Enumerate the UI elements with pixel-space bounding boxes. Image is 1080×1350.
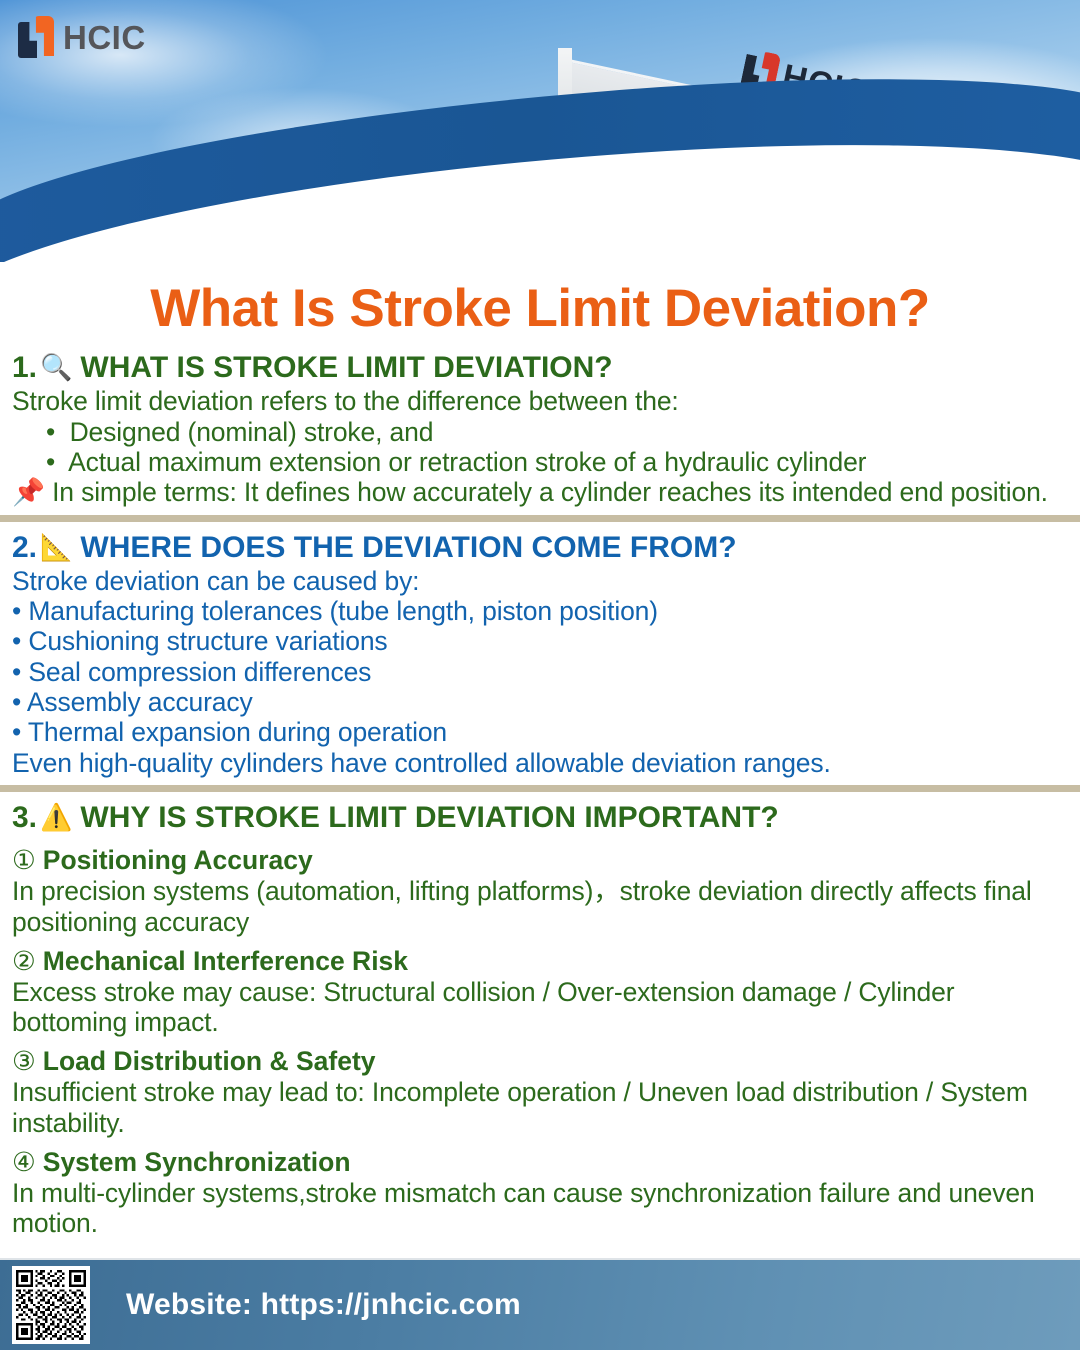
section-3-item-3-title: ③Load Distribution & Safety: [12, 1046, 1068, 1077]
section-divider-2: [0, 785, 1080, 792]
section-1-note-text: In simple terms: It defines how accurate…: [52, 477, 1048, 507]
section-3-item-3-body: Insufficient stroke may lead to: Incompl…: [12, 1077, 1068, 1138]
section-1-bullet-2: • Actual maximum extension or retraction…: [12, 447, 1068, 477]
circled-number-4-icon: ④: [12, 1147, 36, 1177]
section-2: 2. 📐 WHERE DOES THE DEVIATION COME FROM?…: [0, 529, 1080, 778]
section-2-heading-text: WHERE DOES THE DEVIATION COME FROM?: [80, 529, 736, 566]
section-divider-1: [0, 515, 1080, 522]
section-1-bullet-1: • Designed (nominal) stroke, and: [12, 417, 1068, 447]
section-1-note: 📌 In simple terms: It defines how accura…: [12, 477, 1068, 507]
brand-logo: HCIC: [18, 16, 146, 58]
circled-number-2-icon: ②: [12, 946, 36, 976]
page-title: What Is Stroke Limit Deviation?: [0, 262, 1080, 349]
section-1-number: 1.: [12, 349, 37, 386]
qr-code[interactable]: [12, 1266, 90, 1344]
section-1-heading-text: WHAT IS STROKE LIMIT DEVIATION?: [80, 349, 612, 386]
section-3-item-2-body: Excess stroke may cause: Structural coll…: [12, 977, 1068, 1038]
circled-number-3-icon: ③: [12, 1046, 36, 1076]
section-3-item-1-title: ①Positioning Accuracy: [12, 845, 1068, 876]
section-2-number: 2.: [12, 529, 37, 566]
section-1: 1. 🔍 WHAT IS STROKE LIMIT DEVIATION? Str…: [0, 349, 1080, 508]
section-1-body: Stroke limit deviation refers to the dif…: [12, 386, 1068, 507]
circled-number-1-icon: ①: [12, 845, 36, 875]
section-3-item-1-body: In precision systems (automation, liftin…: [12, 876, 1068, 937]
pushpin-icon: 📌: [12, 477, 45, 507]
header-banner: HCIC 华辰重工 HCIC: [0, 0, 1080, 262]
hcic-logo-mark-icon: [18, 16, 54, 58]
section-2-closing: Even high-quality cylinders have control…: [12, 748, 1068, 778]
section-2-bullet-3: • Seal compression differences: [12, 657, 1068, 687]
ruler-icon: 📐: [40, 531, 72, 563]
qr-code-icon: [16, 1270, 86, 1340]
website-label[interactable]: Website: https://jnhcic.com: [126, 1288, 521, 1322]
section-2-bullet-2: • Cushioning structure variations: [12, 626, 1068, 656]
magnifying-glass-icon: 🔍: [40, 351, 72, 383]
warning-triangle-icon: ⚠️: [40, 801, 72, 833]
section-2-heading: 2. 📐 WHERE DOES THE DEVIATION COME FROM?: [12, 529, 1068, 566]
section-2-body: Stroke deviation can be caused by: • Man…: [12, 566, 1068, 778]
section-3-number: 3.: [12, 799, 37, 836]
section-3: 3. ⚠️ WHY IS STROKE LIMIT DEVIATION IMPO…: [0, 799, 1080, 1239]
brand-logo-text: HCIC: [63, 21, 146, 54]
section-3-heading-text: WHY IS STROKE LIMIT DEVIATION IMPORTANT?: [80, 799, 778, 836]
section-2-bullet-4: • Assembly accuracy: [12, 687, 1068, 717]
section-2-bullet-1: • Manufacturing tolerances (tube length,…: [12, 596, 1068, 626]
section-3-item-4-title: ④System Synchronization: [12, 1147, 1068, 1178]
section-3-heading: 3. ⚠️ WHY IS STROKE LIMIT DEVIATION IMPO…: [12, 799, 1068, 836]
section-2-bullet-5: • Thermal expansion during operation: [12, 717, 1068, 747]
footer-bar: Website: https://jnhcic.com: [0, 1258, 1080, 1350]
section-1-heading: 1. 🔍 WHAT IS STROKE LIMIT DEVIATION?: [12, 349, 1068, 386]
section-1-intro: Stroke limit deviation refers to the dif…: [12, 386, 1068, 416]
section-3-item-2-title: ②Mechanical Interference Risk: [12, 946, 1068, 977]
section-3-item-4-body: In multi-cylinder systems,stroke mismatc…: [12, 1178, 1068, 1239]
section-2-intro: Stroke deviation can be caused by:: [12, 566, 1068, 596]
